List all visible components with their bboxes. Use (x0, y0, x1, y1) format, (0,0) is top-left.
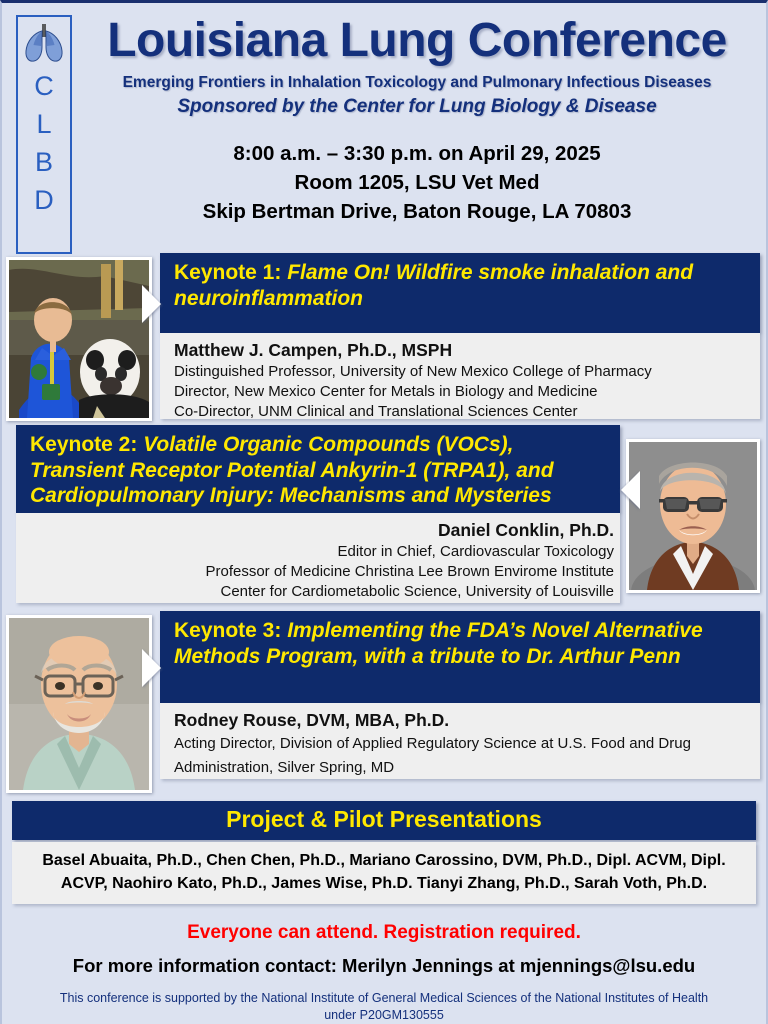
keynote-2-block: Keynote 2: Volatile Organic Compounds (V… (2, 425, 766, 611)
keynote-1-block: Keynote 1: Flame On! Wildfire smoke inha… (2, 253, 766, 425)
lungs-icon (22, 21, 66, 67)
keynote-2-band: Keynote 2: Volatile Organic Compounds (V… (16, 425, 620, 513)
keynote-1-affiliation-3: Co-Director, UNM Clinical and Translatio… (174, 402, 748, 422)
keynote-3-label: Keynote 3 (174, 619, 274, 642)
poster-footer: Everyone can attend. Registration requir… (2, 922, 766, 1024)
keynote-2-affiliation-1: Editor in Chief, Cardiovascular Toxicolo… (30, 542, 614, 562)
event-datetime: 8:00 a.m. – 3:30 p.m. on April 29, 2025 (74, 139, 760, 168)
grant-line-2: under P20GM130555 (16, 1007, 752, 1024)
grant-acknowledgement: This conference is supported by the Nati… (2, 990, 766, 1024)
logo-letter-d: D (34, 181, 54, 219)
keynote-2-separator: : (130, 433, 143, 456)
speaker-photo-rouse (6, 615, 152, 793)
logo-letter-l: L (36, 105, 51, 143)
keynote-1-label: Keynote 1 (174, 261, 274, 284)
keynote-2-pointer (621, 471, 640, 509)
keynote-1-separator: : (274, 261, 287, 284)
keynote-2-title-text: Keynote 2: Volatile Organic Compounds (V… (30, 432, 608, 509)
keynote-1-speaker-name: Matthew J. Campen, Ph.D., MSPH (174, 339, 748, 362)
page-title: Louisiana Lung Conference (74, 17, 760, 65)
keynote-3-title-text: Keynote 3: Implementing the FDA’s Novel … (174, 618, 748, 669)
event-room: Room 1205, LSU Vet Med (74, 168, 760, 197)
event-address: Skip Bertman Drive, Baton Rouge, LA 7080… (74, 197, 760, 226)
conference-poster: C L B D Louisiana Lung Conference Emergi… (0, 0, 768, 1024)
keynote-2-affiliation-3: Center for Cardiometabolic Science, Univ… (30, 582, 614, 602)
keynote-3-affiliation-1: Acting Director, Division of Applied Reg… (174, 732, 748, 780)
logo-letter-b: B (35, 143, 53, 181)
clbd-logo: C L B D (16, 15, 72, 254)
keynote-3-bio: Rodney Rouse, DVM, MBA, Ph.D. Acting Dir… (160, 703, 760, 779)
speaker-photo-conklin (626, 439, 760, 593)
photo-art-rouse (9, 618, 149, 790)
keynote-2-label: Keynote 2 (30, 433, 130, 456)
keynote-1-title-text: Keynote 1: Flame On! Wildfire smoke inha… (174, 260, 748, 311)
keynote-2-speaker-name: Daniel Conklin, Ph.D. (30, 519, 614, 542)
speaker-photo-campen (6, 257, 152, 421)
keynote-2-bio: Daniel Conklin, Ph.D. Editor in Chief, C… (16, 513, 620, 603)
keynote-1-pointer (142, 285, 161, 323)
keynote-3-block: Keynote 3: Implementing the FDA’s Novel … (2, 611, 766, 793)
header-text-block: Louisiana Lung Conference Emerging Front… (74, 17, 760, 226)
keynote-1-affiliation-2: Director, New Mexico Center for Metals i… (174, 382, 748, 402)
contact-line: For more information contact: Merilyn Je… (2, 955, 766, 977)
event-logistics: 8:00 a.m. – 3:30 p.m. on April 29, 2025 … (74, 139, 760, 226)
keynote-3-pointer (142, 649, 161, 687)
keynote-2-affiliation-2: Professor of Medicine Christina Lee Brow… (30, 562, 614, 582)
photo-art-campen (9, 260, 149, 418)
projects-heading: Project & Pilot Presentations (12, 801, 756, 840)
keynote-3-separator: : (274, 619, 287, 642)
keynote-1-affiliation-1: Distinguished Professor, University of N… (174, 362, 748, 382)
projects-presenter-list: Basel Abuaita, Ph.D., Chen Chen, Ph.D., … (12, 842, 756, 904)
keynote-1-band: Keynote 1: Flame On! Wildfire smoke inha… (160, 253, 760, 333)
grant-line-1: This conference is supported by the Nati… (16, 990, 752, 1007)
keynote-3-speaker-name: Rodney Rouse, DVM, MBA, Ph.D. (174, 709, 748, 732)
projects-section: Project & Pilot Presentations Basel Abua… (2, 801, 766, 904)
keynote-1-bio: Matthew J. Campen, Ph.D., MSPH Distingui… (160, 333, 760, 419)
photo-art-conklin (629, 442, 757, 590)
logo-letter-c: C (34, 67, 54, 105)
sponsor-line: Sponsored by the Center for Lung Biology… (74, 96, 760, 118)
page-subtitle: Emerging Frontiers in Inhalation Toxicol… (74, 74, 760, 92)
attendance-note: Everyone can attend. Registration requir… (2, 922, 766, 944)
keynote-3-band: Keynote 3: Implementing the FDA’s Novel … (160, 611, 760, 703)
poster-header: C L B D Louisiana Lung Conference Emergi… (2, 3, 766, 253)
